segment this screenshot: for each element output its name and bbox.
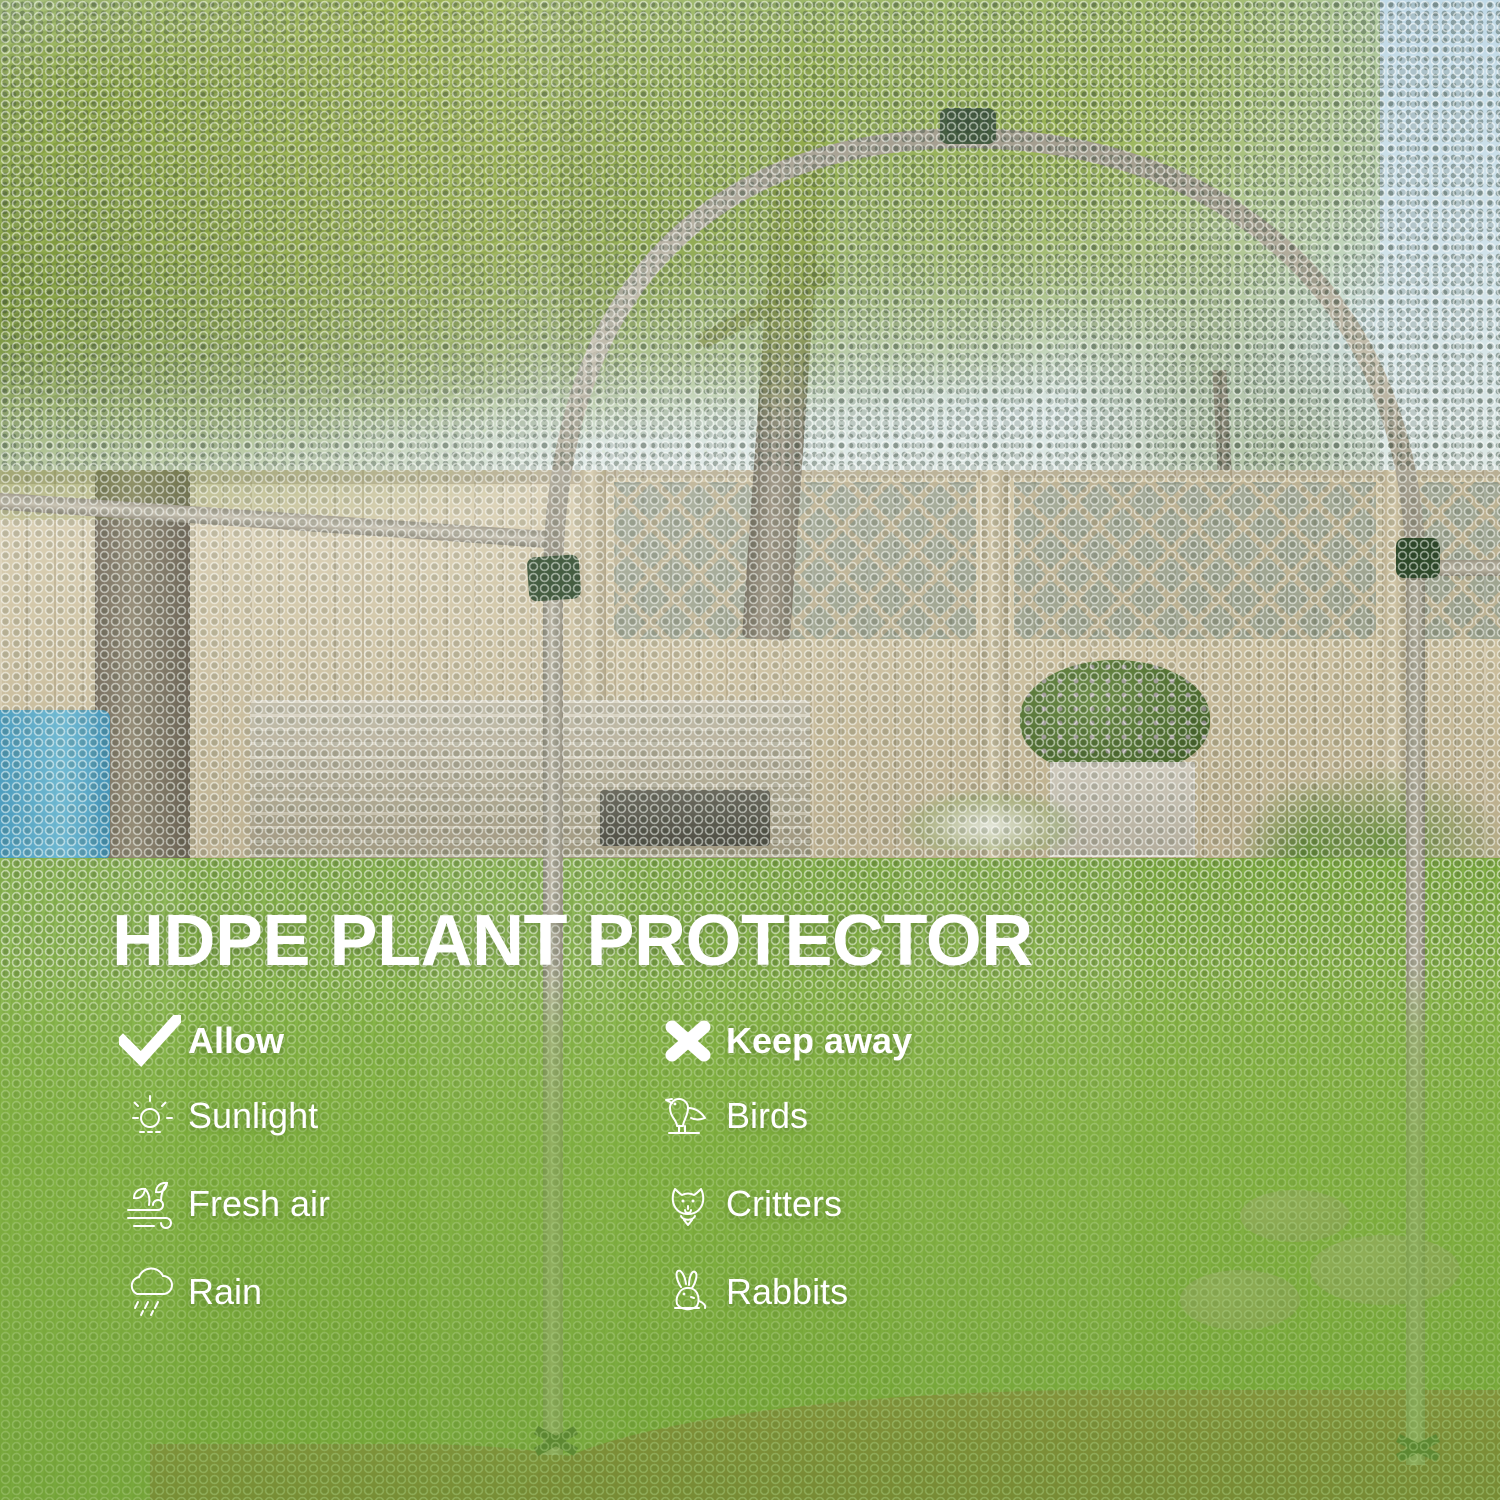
rain-cloud-icon bbox=[112, 1264, 188, 1320]
list-item-label: Critters bbox=[726, 1183, 842, 1225]
keep-away-column: Keep away Birds bbox=[650, 1010, 912, 1336]
list-item: Critters bbox=[650, 1160, 912, 1248]
bird-icon bbox=[650, 1087, 726, 1145]
allow-column: Allow Sunlight bbox=[112, 1010, 330, 1336]
keep-away-heading: Keep away bbox=[726, 1020, 912, 1062]
page-title: HDPE PLANT PROTECTOR bbox=[112, 900, 1033, 982]
list-item: Rabbits bbox=[650, 1248, 912, 1336]
list-item-label: Rabbits bbox=[726, 1271, 848, 1313]
list-item: Fresh air bbox=[112, 1160, 330, 1248]
dog-icon bbox=[650, 1175, 726, 1233]
sun-icon bbox=[112, 1088, 188, 1144]
list-item-label: Birds bbox=[726, 1095, 808, 1137]
allow-heading-row: Allow bbox=[112, 1010, 330, 1072]
list-item: Sunlight bbox=[112, 1072, 330, 1160]
list-item: Birds bbox=[650, 1072, 912, 1160]
list-item-label: Sunlight bbox=[188, 1095, 318, 1137]
check-icon bbox=[112, 1015, 188, 1067]
list-item: Rain bbox=[112, 1248, 330, 1336]
overlay-content: HDPE PLANT PROTECTOR Allow bbox=[0, 0, 1500, 1500]
fresh-air-icon bbox=[112, 1176, 188, 1232]
rabbit-icon bbox=[650, 1263, 726, 1321]
allow-heading: Allow bbox=[188, 1020, 284, 1062]
keep-away-heading-row: Keep away bbox=[650, 1010, 912, 1072]
list-item-label: Rain bbox=[188, 1271, 262, 1313]
cross-icon bbox=[650, 1013, 726, 1069]
list-item-label: Fresh air bbox=[188, 1183, 330, 1225]
